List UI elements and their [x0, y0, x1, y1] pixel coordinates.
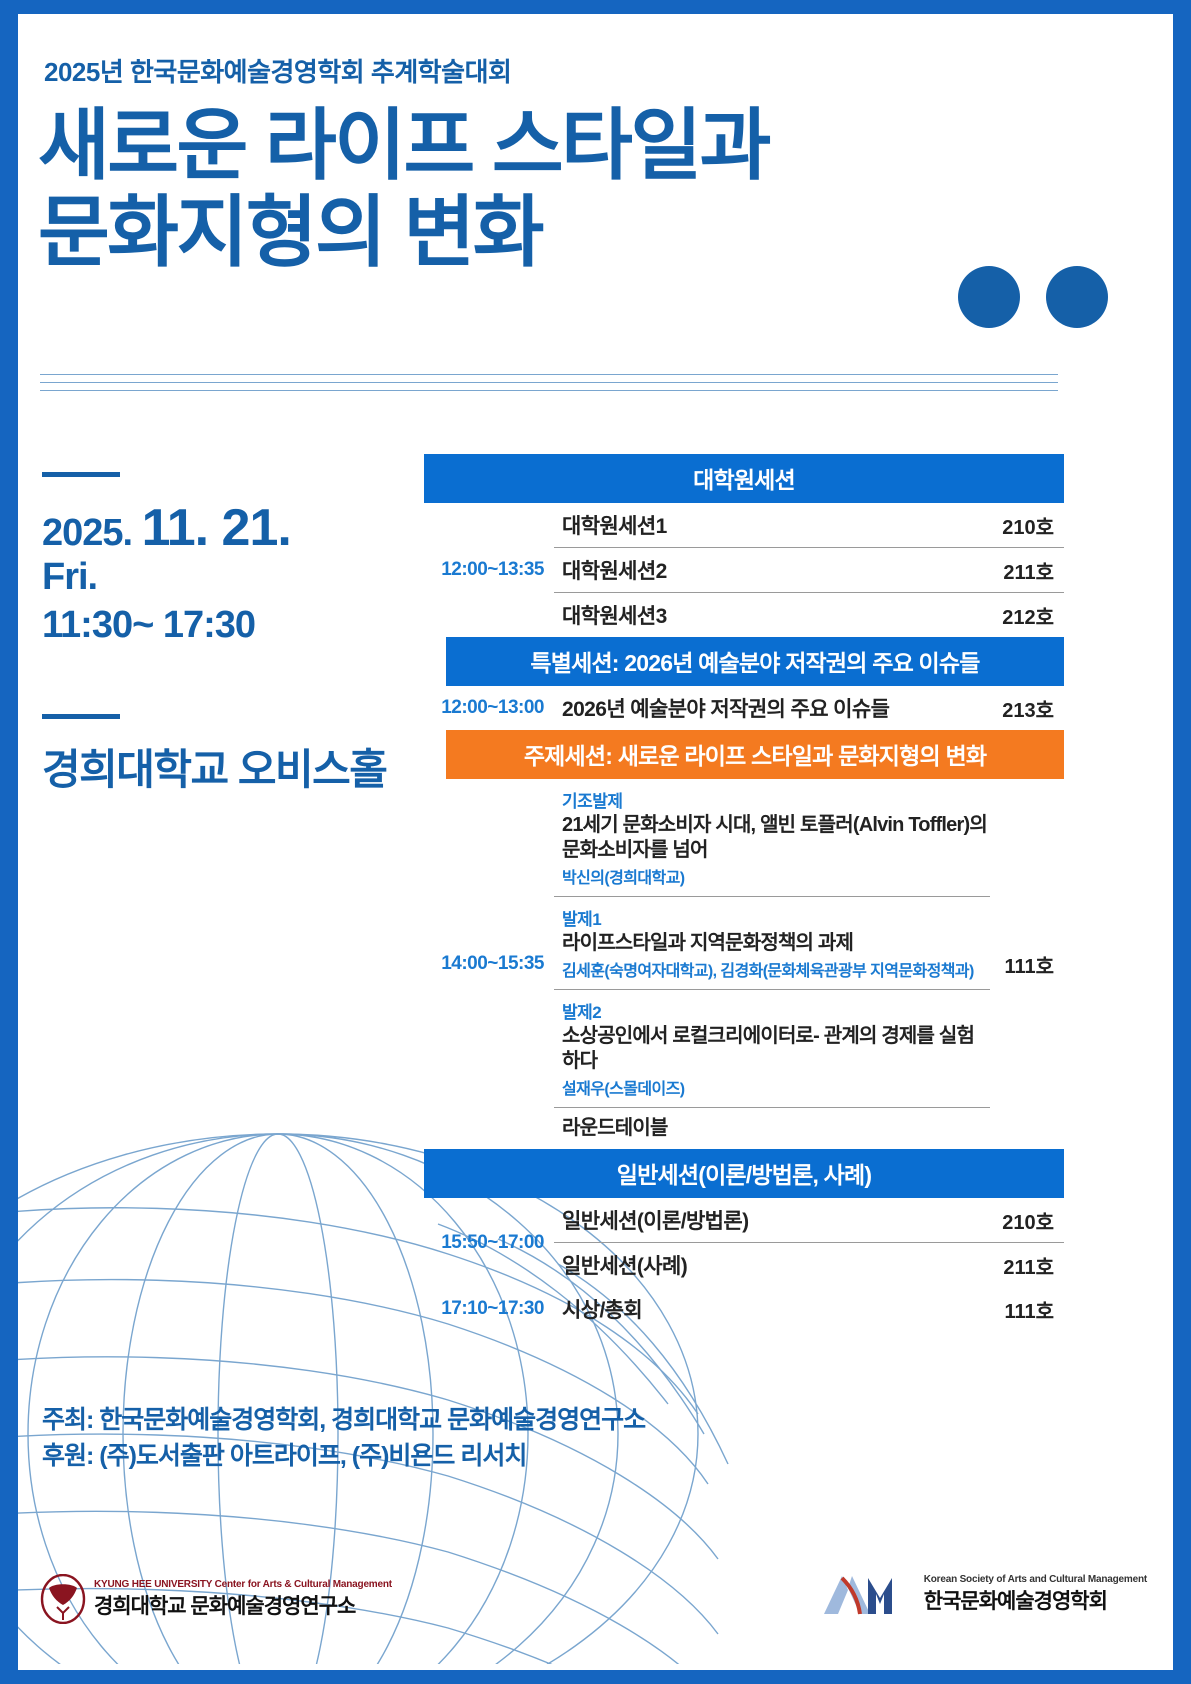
table-row: 대학원세션3 212호 — [554, 593, 1064, 637]
theme-item-title: 21세기 문화소비자 시대, 앨빈 토플러(Alvin Toffler)의 문화… — [562, 813, 990, 863]
table-row: 대학원세션2 211호 — [554, 548, 1064, 593]
row-room: 211호 — [1003, 556, 1064, 585]
acm-en-label: Korean Society of Arts and Cultural Mana… — [924, 1574, 1147, 1585]
section-header-general: 일반세션(이론/방법론, 사례) — [424, 1149, 1064, 1198]
row-room: 212호 — [1002, 601, 1064, 630]
closing-session-time: 17:10~17:30 — [424, 1287, 554, 1331]
decorative-dot-left — [958, 266, 1020, 328]
row-room: 211호 — [1003, 1251, 1064, 1280]
schedule-table: 대학원세션 12:00~13:35 대학원세션1 210호 대학원세션2 211… — [424, 454, 1064, 1331]
theme-item-title: 라운드테이블 — [562, 1116, 990, 1141]
special-session-group: 12:00~13:00 2026년 예술분야 저작권의 주요 이슈들 213호 — [424, 686, 1064, 730]
poster-paper: 2025년 한국문화예술경영학회 추계학술대회 새로운 라이프 스타일과 문화지… — [18, 14, 1173, 1670]
sponsor-line: 후원: (주)도서출판 아트라이프, (주)비욘드 리서치 — [42, 1438, 645, 1474]
page-title: 새로운 라이프 스타일과 문화지형의 변화 — [38, 102, 769, 277]
decorative-dot-right — [1046, 266, 1108, 328]
theme-item-people: 박신의(경희대학교) — [562, 864, 990, 888]
special-session-time: 12:00~13:00 — [424, 686, 554, 730]
date-dash — [42, 472, 120, 477]
general-session-group: 15:50~17:00 일반세션(이론/방법론) 210호 일반세션(사례) 2… — [424, 1198, 1064, 1287]
row-name: 2026년 예술분야 저작권의 주요 이슈들 — [554, 693, 1002, 723]
section-header-graduate: 대학원세션 — [424, 454, 1064, 503]
section-header-theme: 주제세션: 새로운 라이프 스타일과 문화지형의 변화 — [446, 730, 1064, 779]
theme-item-people: 김세훈(숙명여자대학교), 김경화(문화체육관광부 지역문화정책과) — [562, 957, 990, 981]
general-session-time: 15:50~17:00 — [424, 1198, 554, 1287]
row-name: 일반세션(사례) — [554, 1250, 1003, 1280]
event-date-block: 2025. 11. 21. Fri. 11:30~ 17:30 — [42, 502, 291, 649]
row-room: 111호 — [1004, 1295, 1064, 1324]
row-name: 대학원세션3 — [554, 600, 1002, 630]
table-row: 일반세션(사례) 211호 — [554, 1243, 1064, 1287]
acm-ko-label: 한국문화예술경영학회 — [924, 1585, 1147, 1615]
row-name: 시상/총회 — [554, 1294, 1004, 1324]
graduate-session-group: 12:00~13:35 대학원세션1 210호 대학원세션2 211호 대학원세… — [424, 503, 1064, 637]
theme-item-title: 라이프스타일과 지역문화정책의 과제 — [562, 931, 990, 956]
theme-session-room: 111호 — [990, 779, 1064, 1149]
theme-item: 발제2 소상공인에서 로컬크리에이터로- 관계의 경제를 실험하다 설재우(스몰… — [554, 990, 990, 1108]
closing-session-group: 17:10~17:30 시상/총회 111호 — [424, 1287, 1064, 1331]
kyunghee-ko-label: 경희대학교 문화예술경영연구소 — [94, 1590, 392, 1620]
row-name: 대학원세션1 — [554, 510, 1002, 540]
sponsor-block: 주최: 한국문화예술경영학회, 경희대학교 문화예술경영연구소 후원: (주)도… — [42, 1402, 645, 1475]
theme-item-title: 소상공인에서 로컬크리에이터로- 관계의 경제를 실험하다 — [562, 1024, 990, 1074]
logo-kyunghee: KYUNG HEE UNIVERSITY Center for Arts & C… — [40, 1574, 392, 1624]
theme-item-label: 발제2 — [562, 998, 990, 1023]
event-time-range: 11:30~ 17:30 — [42, 602, 291, 650]
kyunghee-crest-icon — [40, 1574, 86, 1624]
kyunghee-en-label: KYUNG HEE UNIVERSITY Center for Arts & C… — [94, 1579, 392, 1590]
date-line: 2025. 11. 21. — [42, 502, 291, 554]
divider-rules — [40, 374, 1058, 398]
theme-item-label: 발제1 — [562, 905, 990, 930]
row-name: 일반세션(이론/방법론) — [554, 1205, 1002, 1235]
event-kicker: 2025년 한국문화예술경영학회 추계학술대회 — [44, 52, 511, 89]
theme-item: 기조발제 21세기 문화소비자 시대, 앨빈 토플러(Alvin Toffler… — [554, 779, 990, 897]
poster-canvas: 2025년 한국문화예술경영학회 추계학술대회 새로운 라이프 스타일과 문화지… — [0, 0, 1191, 1684]
table-row: 대학원세션1 210호 — [554, 503, 1064, 548]
host-line: 주최: 한국문화예술경영학회, 경희대학교 문화예술경영연구소 — [42, 1402, 645, 1438]
table-row: 2026년 예술분야 저작권의 주요 이슈들 213호 — [554, 686, 1064, 730]
theme-session-group: 14:00~15:35 기조발제 21세기 문화소비자 시대, 앨빈 토플러(A… — [424, 779, 1064, 1149]
row-room: 210호 — [1002, 511, 1064, 540]
theme-item: 발제1 라이프스타일과 지역문화정책의 과제 김세훈(숙명여자대학교), 김경화… — [554, 897, 990, 990]
acm-logo-icon — [818, 1570, 914, 1618]
theme-item-label: 기조발제 — [562, 787, 990, 812]
theme-item: 라운드테이블 — [554, 1108, 990, 1149]
venue-dash — [42, 714, 120, 719]
date-weekday: Fri. — [42, 554, 291, 602]
table-row: 일반세션(이론/방법론) 210호 — [554, 1198, 1064, 1243]
title-line-2: 문화지형의 변화 — [38, 189, 769, 276]
theme-session-time: 14:00~15:35 — [424, 779, 554, 1149]
row-room: 210호 — [1002, 1206, 1064, 1235]
logo-acm: Korean Society of Arts and Cultural Mana… — [818, 1570, 1147, 1618]
row-name: 대학원세션2 — [554, 555, 1003, 585]
event-venue: 경희대학교 오비스홀 — [42, 736, 386, 797]
theme-item-people: 설재우(스몰데이즈) — [562, 1075, 990, 1099]
row-room: 213호 — [1002, 694, 1064, 723]
table-row: 시상/총회 111호 — [554, 1287, 1064, 1331]
title-line-1: 새로운 라이프 스타일과 — [38, 102, 769, 189]
date-daymonth: 11. 21. — [142, 499, 291, 557]
section-header-special: 특별세션: 2026년 예술분야 저작권의 주요 이슈들 — [446, 637, 1064, 686]
date-year: 2025. — [42, 512, 132, 554]
graduate-session-time: 12:00~13:35 — [424, 503, 554, 637]
